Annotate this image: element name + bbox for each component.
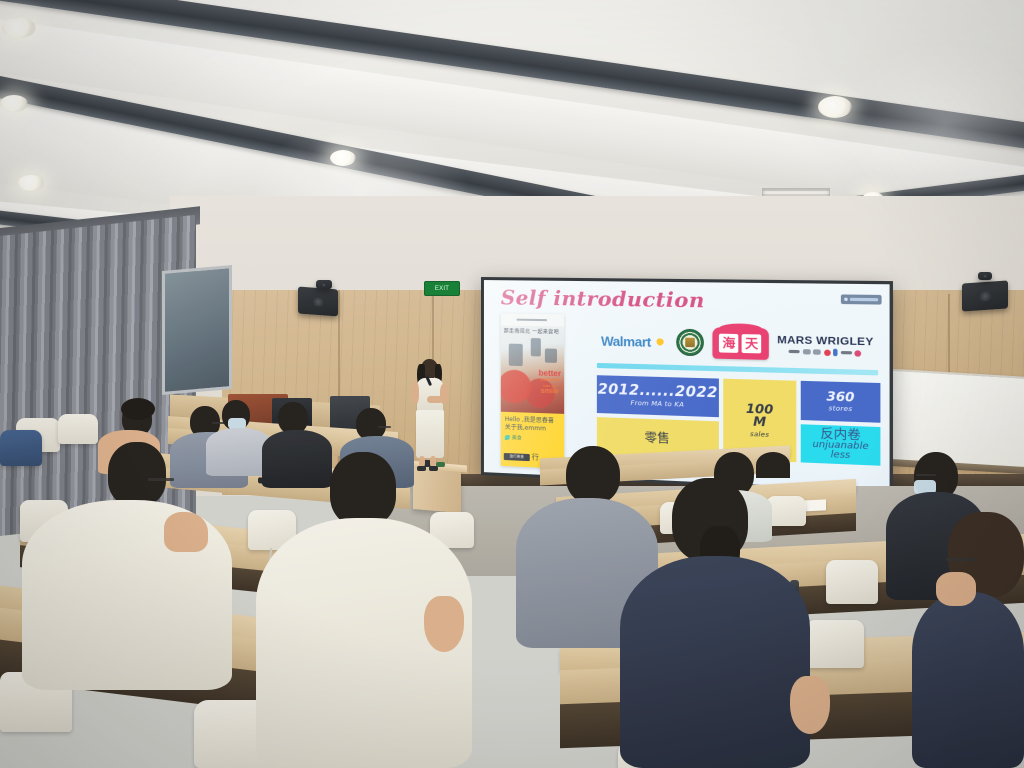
- brand-icon-6: [841, 351, 852, 354]
- poster-masthead: [501, 313, 564, 326]
- haitian-char-1: 海: [719, 334, 738, 353]
- metric-cell-stores: 360 stores: [801, 381, 880, 423]
- presenter-hand: [427, 396, 443, 403]
- poster-chip: 旅行美食: [504, 453, 530, 461]
- poster-tag-label: 美食: [512, 434, 522, 441]
- slide-logo-row: Walmart 海 天 MARS WRIGLEY: [597, 320, 878, 368]
- walmart-logo-text: Walmart: [601, 333, 651, 349]
- mars-brand-icons: [777, 347, 874, 357]
- person-head: [756, 452, 790, 478]
- lectern: [413, 465, 461, 513]
- haitian-logo: 海 天: [712, 327, 768, 360]
- chair[interactable]: [58, 414, 98, 444]
- glasses-icon: [378, 426, 391, 428]
- poster-tag-row: 美食: [505, 434, 560, 443]
- poster-walk-label: 行: [532, 452, 539, 462]
- lecture-hall-screenshot: EXIT Self introduction 那走南闯北 一起来尝吧 Hel: [0, 0, 1024, 768]
- person-hand: [164, 512, 208, 552]
- slide-title: Self introduction: [501, 285, 705, 312]
- seal-logo: [676, 329, 704, 357]
- person-arm: [790, 676, 830, 734]
- window: [162, 265, 232, 395]
- metric-years-caption: From MA to KA: [631, 400, 684, 409]
- metric-retail-label: 零售: [645, 431, 670, 445]
- wall-speaker-icon: [962, 280, 1008, 311]
- recessed-downlight-icon: [818, 96, 852, 118]
- brand-icon-3: [813, 349, 821, 354]
- brand-icon-7: [855, 350, 862, 357]
- metric-stores-caption: stores: [829, 405, 853, 413]
- mars-wrigley-logo-text: MARS WRIGLEY: [777, 334, 874, 349]
- metric-antijuan-extra: less: [831, 451, 851, 462]
- poster-chip-label: 旅行美食: [504, 453, 530, 461]
- presenter-skirt: [416, 410, 444, 458]
- recessed-downlight-icon: [2, 18, 36, 38]
- person-head: [576, 456, 616, 486]
- speaker-bracket: [316, 280, 332, 289]
- hud-dot-icon: [844, 298, 847, 301]
- poster-object: [545, 348, 557, 362]
- presenter-arm-left: [412, 382, 419, 404]
- poster-brand-line4: smile: [539, 389, 561, 396]
- metric-amount-caption: sales: [750, 431, 769, 439]
- person-head: [330, 452, 396, 526]
- poster-text-block: Hello ,我是思春喜 关于我,emmm 美食: [501, 412, 564, 444]
- person-torso: [262, 430, 332, 488]
- brand-icon-4: [824, 349, 831, 356]
- chair[interactable]: [806, 620, 864, 668]
- poster-headline: 那走南闯北 一起来尝吧: [504, 327, 561, 335]
- person-hand: [936, 572, 976, 606]
- glasses-icon: [946, 558, 978, 561]
- brand-icon-1: [789, 350, 800, 353]
- chair[interactable]: [766, 496, 806, 526]
- exit-sign-label: EXIT: [435, 286, 449, 292]
- speaker-bracket: [978, 272, 992, 280]
- wall-speaker-icon: [298, 287, 338, 317]
- walmart-logo: Walmart: [601, 333, 668, 350]
- metric-stores-value: 360: [826, 390, 854, 404]
- metric-cell-antijuan: 反内卷 unjuanable less: [801, 424, 880, 466]
- hud-bar-icon: [850, 298, 878, 302]
- person-torso: [912, 592, 1024, 768]
- glasses-icon: [916, 474, 936, 476]
- recessed-downlight-icon: [0, 95, 28, 112]
- exit-sign: EXIT: [424, 281, 460, 296]
- poster-object: [531, 338, 541, 356]
- chair[interactable]: [0, 430, 42, 466]
- presenter-shoe: [429, 466, 438, 471]
- projector-status-chip: [841, 294, 882, 304]
- person-torso: [620, 556, 810, 768]
- slide-poster: 那走南闯北 一起来尝吧 Hello ,我是思春喜 关于我,emmm 美食 bet…: [501, 313, 564, 468]
- metric-amount-unit: M: [753, 416, 766, 430]
- poster-brand-block: better moments make you smile: [539, 371, 561, 396]
- walmart-spark-icon: [654, 335, 668, 349]
- recessed-downlight-icon: [330, 150, 356, 166]
- metric-years-value: 2012......2022: [598, 382, 718, 401]
- poster-object: [509, 344, 523, 366]
- poster-photo: 那走南闯北 一起来尝吧: [501, 313, 564, 414]
- recessed-downlight-icon: [18, 175, 44, 191]
- brand-icon-2: [803, 349, 811, 354]
- mars-wrigley-logo: MARS WRIGLEY: [777, 334, 874, 357]
- person-head: [108, 442, 166, 506]
- haitian-char-2: 天: [742, 334, 762, 353]
- leaf-icon: [505, 435, 510, 440]
- presenter-shoe: [417, 466, 426, 471]
- chair[interactable]: [826, 560, 878, 604]
- brand-icon-5: [833, 349, 837, 357]
- person-hair: [121, 398, 155, 420]
- metric-cell-years: 2012......2022 From MA to KA: [597, 375, 719, 417]
- glasses-icon: [148, 478, 174, 481]
- person-arm: [424, 596, 464, 652]
